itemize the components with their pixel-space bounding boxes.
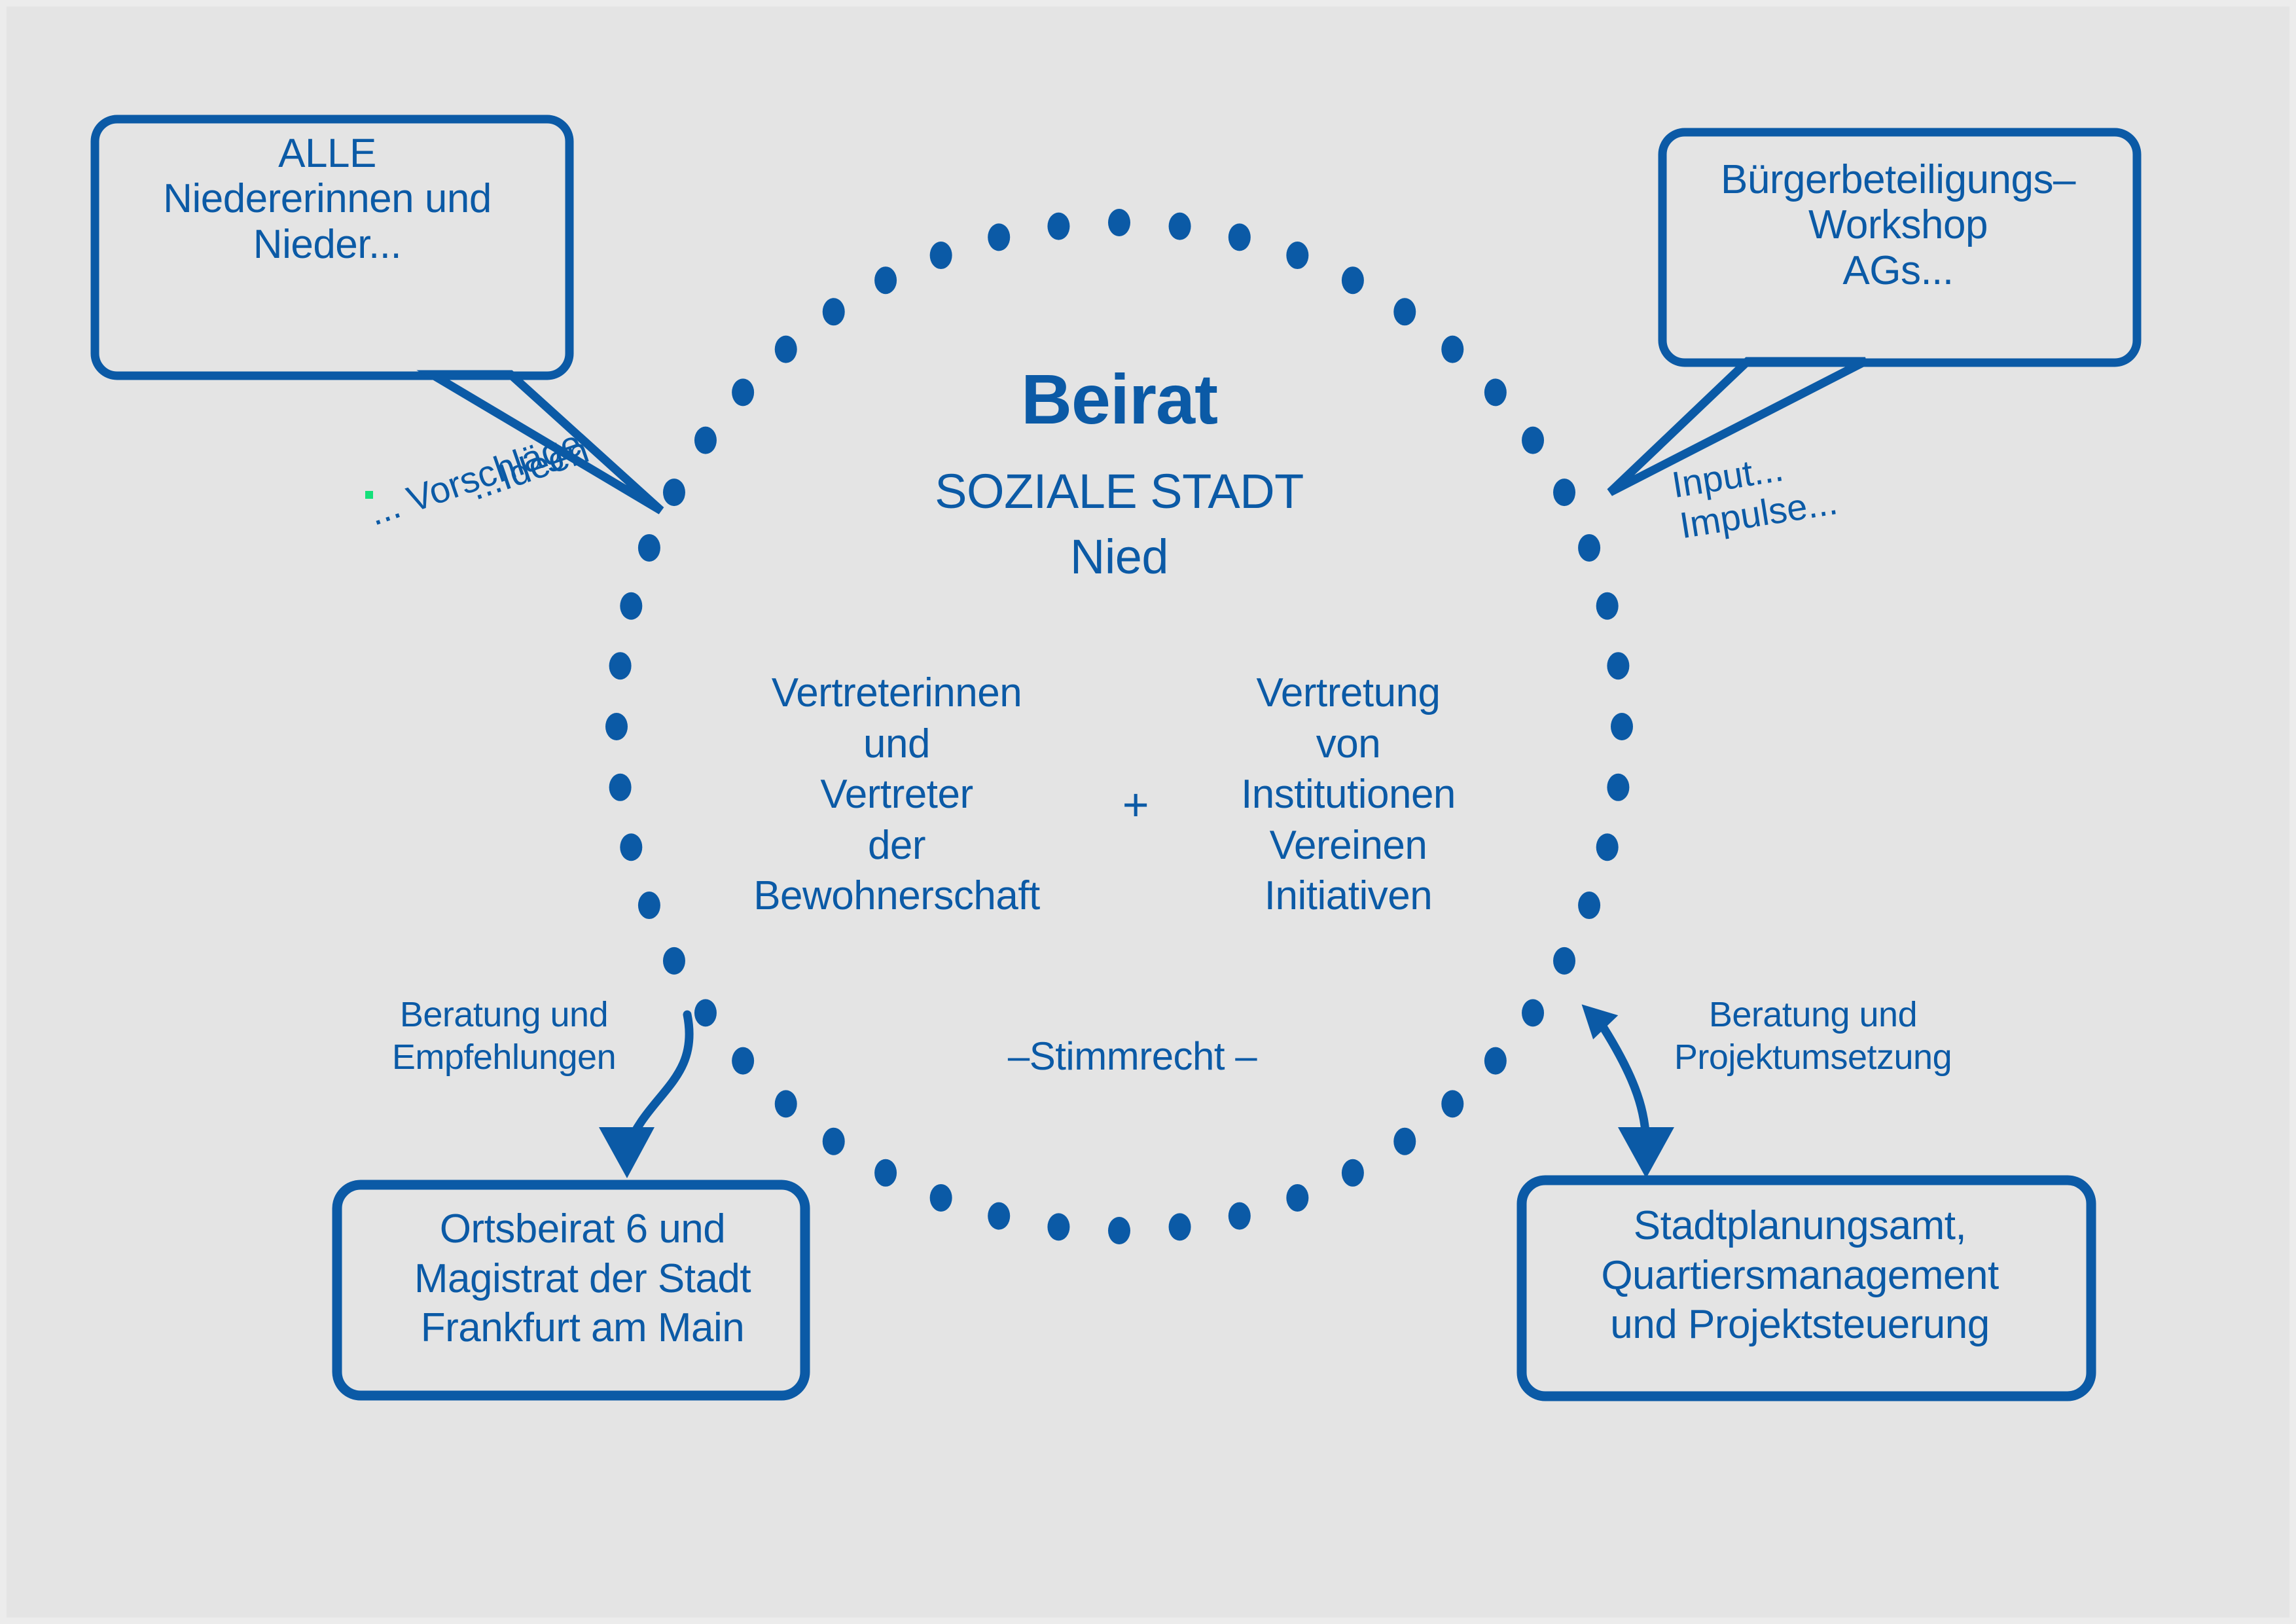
ring-dot	[1047, 213, 1069, 240]
ring-dot	[694, 999, 717, 1026]
ring-dot	[1441, 1090, 1463, 1117]
ring-dot	[1607, 652, 1629, 679]
ring-dot	[663, 478, 685, 506]
diagram-canvas: ALLE Niedererinnen und Nieder... Bürgerb…	[0, 0, 2296, 1624]
ring-dot	[732, 378, 754, 406]
ring-dot	[1108, 1217, 1130, 1244]
ring-dot	[732, 1047, 754, 1075]
ring-dot	[775, 336, 797, 363]
ring-dot	[823, 1128, 845, 1155]
box-bottom-right-label: Stadtplanungsamt, Quartiersmanagement un…	[1512, 1201, 2088, 1350]
ring-dot	[1169, 1213, 1191, 1240]
ring-dot	[1229, 223, 1251, 251]
circle-column-residents: Vertreterinnen und Vertreter der Bewohne…	[700, 668, 1093, 922]
ring-dot	[1393, 1128, 1416, 1155]
bubble-top-right-label: Bürgerbeteiligungs– Workshop AGs...	[1656, 157, 2140, 293]
flow-label-beratung-projektumsetzung: Beratung und Projektumsetzung	[1643, 994, 1983, 1079]
ring-dot	[1342, 266, 1364, 294]
ring-dot	[1441, 336, 1463, 363]
ring-dot	[988, 1202, 1010, 1230]
ring-dot	[1484, 378, 1507, 406]
plus-operator: +	[1093, 779, 1178, 830]
circle-column-institutions: Vertretung von Institutionen Vereinen In…	[1178, 668, 1518, 922]
ring-dot	[620, 833, 642, 861]
ring-dot	[1522, 999, 1544, 1026]
ring-dot	[1169, 213, 1191, 240]
ring-dot	[1596, 833, 1619, 861]
box-bottom-left-label: Ortsbeirat 6 und Magistrat der Stadt Fra…	[340, 1204, 825, 1353]
arrow-left-down-head	[599, 1127, 655, 1178]
ring-dot	[930, 242, 952, 269]
ring-dot	[638, 892, 660, 919]
ring-dot	[620, 592, 642, 620]
ring-dot	[638, 534, 660, 562]
ring-dot	[1578, 534, 1600, 562]
ring-dot	[775, 1090, 797, 1117]
ring-dot	[605, 713, 628, 740]
flow-label-beratung-empfehlungen: Beratung und Empfehlungen	[347, 994, 661, 1079]
ring-dot	[1047, 1213, 1069, 1240]
ring-dot	[1286, 242, 1308, 269]
ring-dot	[1553, 947, 1575, 975]
ring-dot	[988, 223, 1010, 251]
bubble-top-left-label: ALLE Niedererinnen und Nieder...	[98, 131, 556, 267]
ring-dot	[609, 652, 632, 679]
ring-dot	[694, 427, 717, 454]
ring-dot	[1522, 427, 1544, 454]
ring-dot	[930, 1184, 952, 1212]
ring-dot	[1607, 774, 1629, 801]
ring-dot	[874, 1159, 897, 1187]
subtitle-line-2: Nied	[785, 530, 1453, 585]
ring-dot	[609, 774, 632, 801]
ring-dot	[1578, 892, 1600, 919]
ring-dot	[874, 266, 897, 294]
ring-dot	[823, 298, 845, 325]
ring-dot	[663, 947, 685, 975]
ring-dot	[1611, 713, 1633, 740]
ring-dot	[1229, 1202, 1251, 1230]
arrow-right-head-down	[1618, 1127, 1674, 1178]
ring-dot	[1393, 298, 1416, 325]
ring-dot	[1286, 1184, 1308, 1212]
arrow-right-head-up	[1582, 998, 1623, 1040]
voting-rights-note: –Stimmrecht –	[923, 1034, 1342, 1078]
ring-dot	[1484, 1047, 1507, 1075]
subtitle-line-1: SOZIALE STADT	[785, 465, 1453, 519]
ring-dot	[1342, 1159, 1364, 1187]
ring-dot	[1596, 592, 1619, 620]
ring-dot	[1108, 209, 1130, 236]
ring-dot	[1553, 478, 1575, 506]
page-title: Beirat	[785, 360, 1453, 439]
